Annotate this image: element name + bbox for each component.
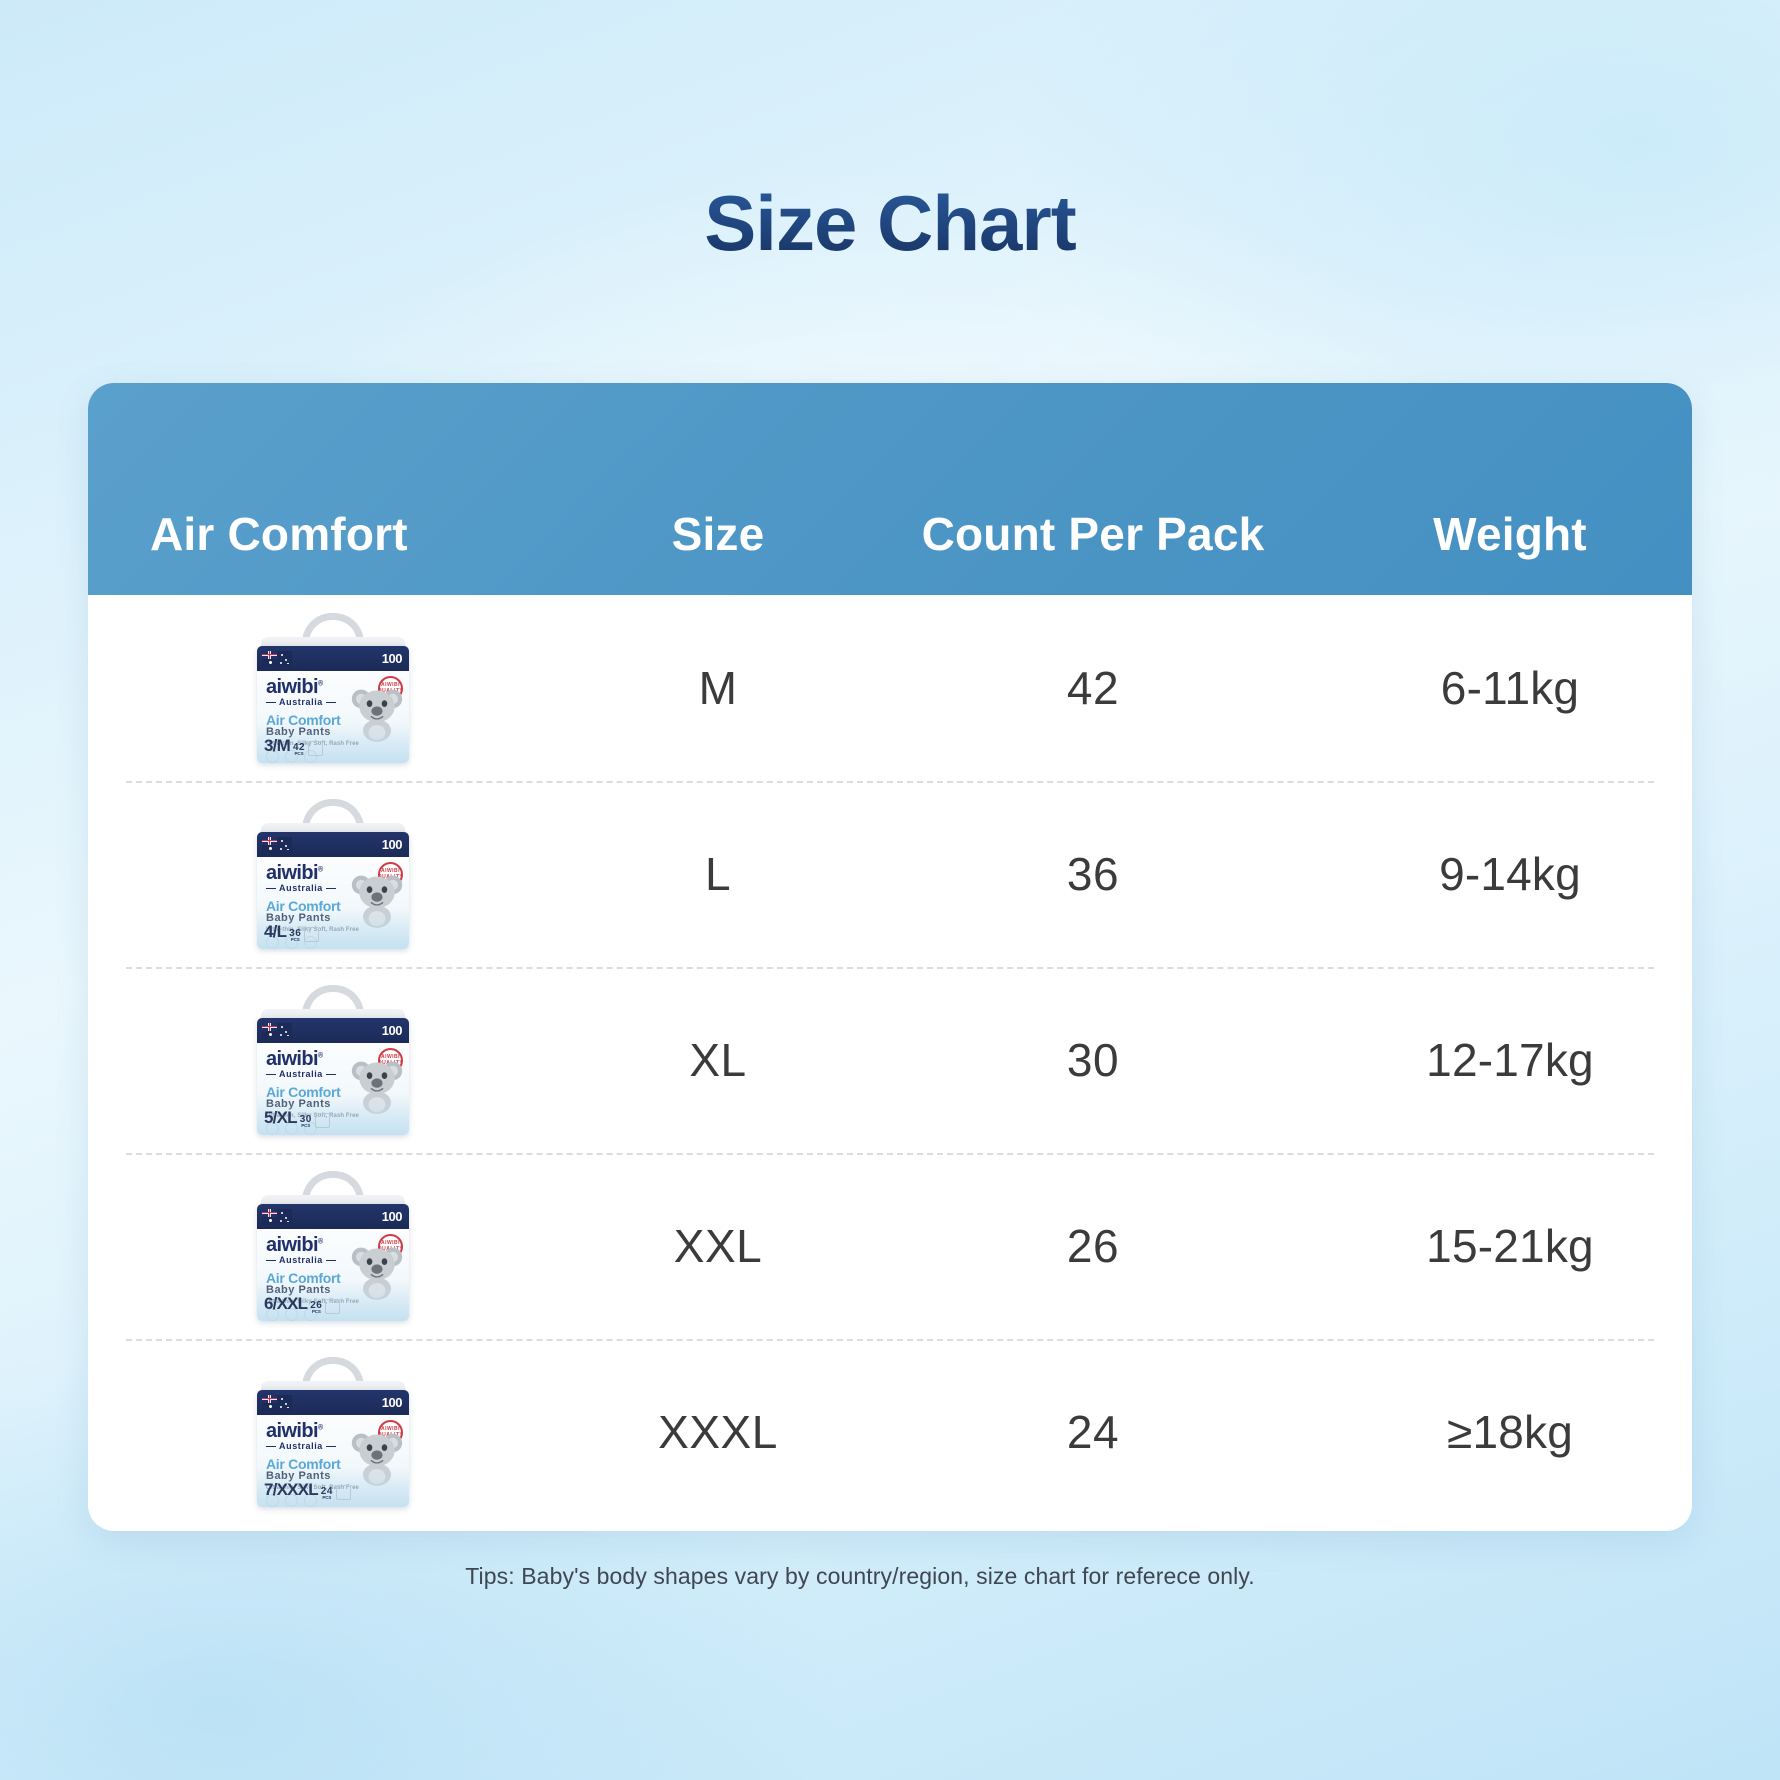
cell-weight: 12-17kg <box>1328 1033 1692 1087</box>
australia-flag-icon <box>262 1209 292 1225</box>
table-row: 100 aiwibi® Australia Air Comfort Baby P… <box>88 781 1692 967</box>
product-package-image: 100 aiwibi® Australia Air Comfort Baby P… <box>255 613 411 763</box>
package-pictogram-icon <box>308 741 323 756</box>
product-image-cell: 100 aiwibi® Australia Air Comfort Baby P… <box>88 985 578 1135</box>
package-navy-band: 100 <box>257 832 409 857</box>
product-package-image: 100 aiwibi® Australia Air Comfort Baby P… <box>255 799 411 949</box>
footer-tips: Tips: Baby's body shapes vary by country… <box>0 1563 1780 1590</box>
package-brand-name: aiwibi® <box>266 862 323 885</box>
size-chart-table: Air Comfort Size Count Per Pack Weight <box>88 383 1692 1531</box>
cell-size: XXL <box>578 1219 858 1273</box>
cell-weight: 6-11kg <box>1328 661 1692 715</box>
package-count-badge: 30PCS <box>300 1116 312 1128</box>
package-country: Australia <box>279 1441 323 1451</box>
cell-count: 30 <box>858 1033 1328 1087</box>
package-band-number: 100 <box>382 837 404 852</box>
package-brand-name: aiwibi® <box>266 676 323 699</box>
table-row: 100 aiwibi® Australia Air Comfort Baby P… <box>88 967 1692 1153</box>
column-header-weight: Weight <box>1328 507 1692 561</box>
package-navy-band: 100 <box>257 1018 409 1043</box>
package-size-label: 4/L 36PCS <box>264 922 319 942</box>
package-navy-band: 100 <box>257 646 409 671</box>
package-navy-band: 100 <box>257 1204 409 1229</box>
package-size-label: 6/XXL 26PCS <box>264 1294 340 1314</box>
package-country: Australia <box>279 1255 323 1265</box>
package-body: 100 aiwibi® Australia Air Comfort Baby P… <box>257 646 409 763</box>
package-band-number: 100 <box>382 1209 404 1224</box>
column-header-product: Air Comfort <box>88 507 578 561</box>
package-brand-name: aiwibi® <box>266 1048 323 1071</box>
product-image-cell: 100 aiwibi® Australia Air Comfort Baby P… <box>88 799 578 949</box>
package-body: 100 aiwibi® Australia Air Comfort Baby P… <box>257 1018 409 1135</box>
package-body: 100 aiwibi® Australia Air Comfort Baby P… <box>257 832 409 949</box>
table-row: 100 aiwibi® Australia Air Comfort Baby P… <box>88 1339 1692 1525</box>
package-brand-name: aiwibi® <box>266 1234 323 1257</box>
package-body: 100 aiwibi® Australia Air Comfort Baby P… <box>257 1390 409 1507</box>
product-package-image: 100 aiwibi® Australia Air Comfort Baby P… <box>255 1171 411 1321</box>
australia-flag-icon <box>262 837 292 853</box>
cell-weight: ≥18kg <box>1328 1405 1692 1459</box>
table-body: 100 aiwibi® Australia Air Comfort Baby P… <box>88 595 1692 1531</box>
cell-weight: 9-14kg <box>1328 847 1692 901</box>
package-navy-band: 100 <box>257 1390 409 1415</box>
package-count-badge: 42PCS <box>293 744 305 756</box>
cell-count: 26 <box>858 1219 1328 1273</box>
product-package-image: 100 aiwibi® Australia Air Comfort Baby P… <box>255 985 411 1135</box>
package-country: Australia <box>279 883 323 893</box>
australia-flag-icon <box>262 1023 292 1039</box>
cell-count: 42 <box>858 661 1328 715</box>
cell-size: M <box>578 661 858 715</box>
package-country: Australia <box>279 1069 323 1079</box>
package-pictogram-icon <box>325 1299 340 1314</box>
cell-size: L <box>578 847 858 901</box>
package-count-badge: 36PCS <box>289 930 301 942</box>
cell-count: 24 <box>858 1405 1328 1459</box>
package-count-badge: 24PCS <box>321 1488 333 1500</box>
package-band-number: 100 <box>382 1395 404 1410</box>
product-image-cell: 100 aiwibi® Australia Air Comfort Baby P… <box>88 1357 578 1507</box>
package-pictogram-icon <box>304 927 319 942</box>
australia-flag-icon <box>262 651 292 667</box>
package-size-code: 5/XL <box>264 1108 297 1128</box>
product-image-cell: 100 aiwibi® Australia Air Comfort Baby P… <box>88 613 578 763</box>
package-count-badge: 26PCS <box>310 1302 322 1314</box>
package-size-label: 3/M 42PCS <box>264 736 323 756</box>
cell-count: 36 <box>858 847 1328 901</box>
table-row: 100 aiwibi® Australia Air Comfort Baby P… <box>88 1153 1692 1339</box>
cell-size: XL <box>578 1033 858 1087</box>
column-header-count: Count Per Pack <box>858 507 1328 561</box>
cell-weight: 15-21kg <box>1328 1219 1692 1273</box>
package-band-number: 100 <box>382 1023 404 1038</box>
product-package-image: 100 aiwibi® Australia Air Comfort Baby P… <box>255 1357 411 1507</box>
size-chart-page: Size Chart Air Comfort Size Count Per Pa… <box>0 0 1780 1780</box>
package-pictogram-icon <box>336 1485 351 1500</box>
cell-size: XXXL <box>578 1405 858 1459</box>
package-country: Australia <box>279 697 323 707</box>
package-size-code: 3/M <box>264 736 290 756</box>
package-size-label: 5/XL 30PCS <box>264 1108 330 1128</box>
australia-flag-icon <box>262 1395 292 1411</box>
package-size-code: 6/XXL <box>264 1294 307 1314</box>
package-body: 100 aiwibi® Australia Air Comfort Baby P… <box>257 1204 409 1321</box>
table-header-row: Air Comfort Size Count Per Pack Weight <box>88 383 1692 595</box>
table-row: 100 aiwibi® Australia Air Comfort Baby P… <box>88 595 1692 781</box>
product-image-cell: 100 aiwibi® Australia Air Comfort Baby P… <box>88 1171 578 1321</box>
page-title: Size Chart <box>0 178 1780 269</box>
package-size-code: 7/XXXL <box>264 1480 318 1500</box>
package-size-label: 7/XXXL 24PCS <box>264 1480 351 1500</box>
package-brand-name: aiwibi® <box>266 1420 323 1443</box>
package-pictogram-icon <box>315 1113 330 1128</box>
column-header-size: Size <box>578 507 858 561</box>
package-band-number: 100 <box>382 651 404 666</box>
package-size-code: 4/L <box>264 922 286 942</box>
